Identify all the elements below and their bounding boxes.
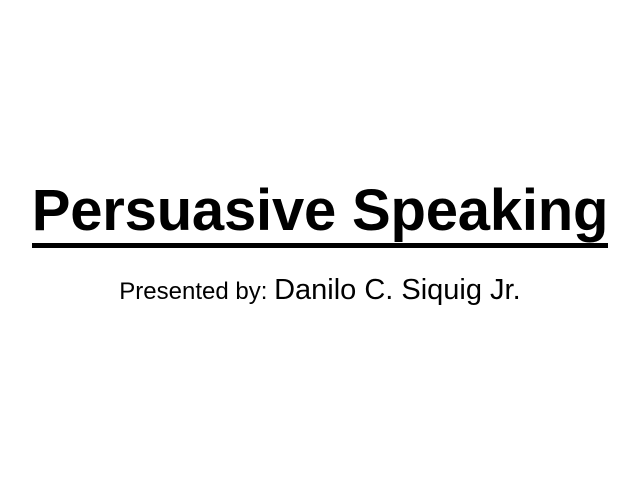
presenter-name: Danilo C. Siquig Jr. (274, 274, 521, 306)
presentation-slide: Persuasive Speaking Presented by: Danilo… (0, 0, 640, 480)
slide-title-container: Persuasive Speaking (0, 143, 640, 287)
slide-subtitle-container: Presented by: Danilo C. Siquig Jr. (0, 274, 640, 307)
page-title: Persuasive Speaking (32, 182, 609, 248)
subtitle-lead-text: Presented by: (119, 278, 267, 305)
